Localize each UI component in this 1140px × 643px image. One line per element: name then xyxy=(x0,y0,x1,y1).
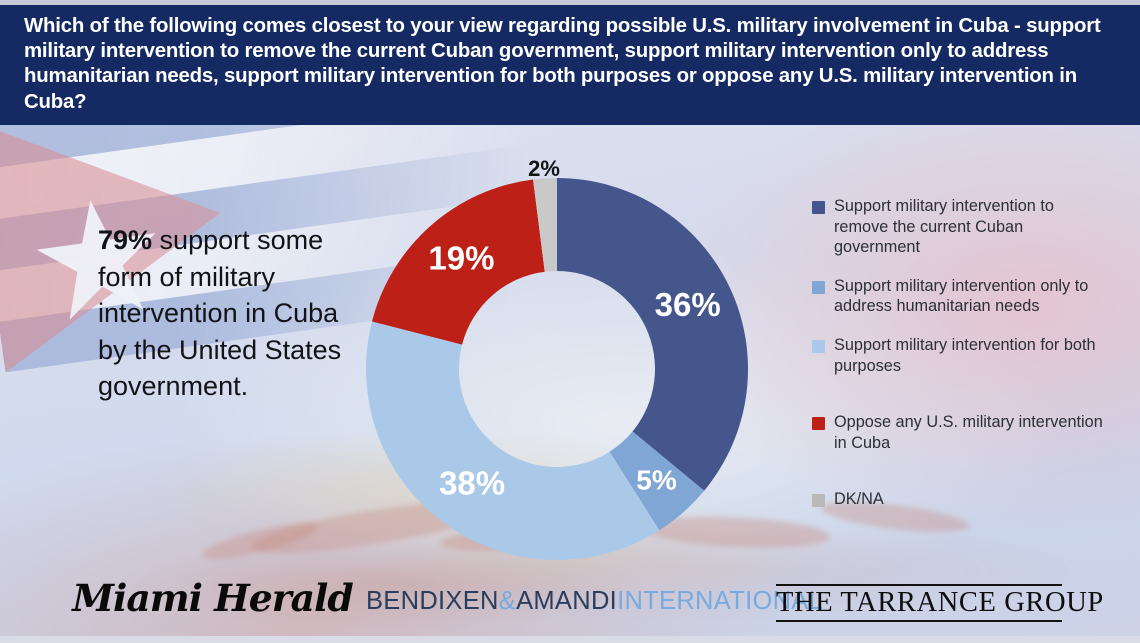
callout-highlight: 79% xyxy=(98,225,152,255)
legend-swatch-icon xyxy=(812,340,825,353)
infographic-poster: Which of the following comes closest to … xyxy=(0,0,1140,643)
bendixen-amandi-logo: BENDIXEN&AMANDIINTERNATIONAL xyxy=(366,587,823,616)
tarrance-rule-top xyxy=(776,584,1062,586)
legend-swatch-icon xyxy=(812,417,825,430)
donut-slice-label: 38% xyxy=(439,465,505,502)
legend-item-humanitarian[interactable]: Support military intervention only to ad… xyxy=(812,276,1112,317)
legend-item-oppose[interactable]: Oppose any U.S. military intervention in… xyxy=(812,412,1112,453)
legend-item-label: Oppose any U.S. military intervention in… xyxy=(834,412,1112,453)
legend-item-label: Support military intervention for both p… xyxy=(834,335,1112,376)
legend-item-dk-na[interactable]: DK/NA xyxy=(812,489,1112,510)
legend-swatch-icon xyxy=(812,201,825,214)
legend-swatch-icon xyxy=(812,494,825,507)
legend-item-label: DK/NA xyxy=(834,489,884,510)
chart-legend: Support military intervention to remove … xyxy=(812,196,1112,524)
bendixen-word: BENDIXEN xyxy=(366,587,499,615)
donut-slice[interactable] xyxy=(366,322,659,560)
footer-logos: Miami Herald BENDIXEN&AMANDIINTERNATIONA… xyxy=(0,560,1140,636)
amandi-word: AMANDI xyxy=(516,587,617,615)
callout-text: 79% support some form of military interv… xyxy=(98,222,348,405)
legend-item-both-purposes[interactable]: Support military intervention for both p… xyxy=(812,335,1112,376)
page-title: Which of the following comes closest to … xyxy=(24,14,1126,115)
legend-item-label: Support military intervention only to ad… xyxy=(834,276,1112,317)
donut-slices xyxy=(366,178,748,560)
tarrance-rule-bottom xyxy=(776,620,1062,622)
question-header: Which of the following comes closest to … xyxy=(0,5,1140,125)
tarrance-group-logo: THE TARRANCE GROUP xyxy=(776,584,1062,622)
legend-item-label: Support military intervention to remove … xyxy=(834,196,1112,258)
legend-item-remove-government[interactable]: Support military intervention to remove … xyxy=(812,196,1112,258)
bendixen-ampersand: & xyxy=(499,587,516,615)
donut-slice[interactable] xyxy=(557,178,748,491)
donut-chart: 36%5%38%19%2% xyxy=(366,178,748,560)
donut-slice-label: 5% xyxy=(636,464,677,495)
donut-slice-label: 19% xyxy=(428,239,494,276)
legend-swatch-icon xyxy=(812,281,825,294)
donut-chart-svg: 36%5%38%19%2% xyxy=(366,178,748,560)
top-frame-strip xyxy=(0,0,1140,5)
donut-slice-label: 2% xyxy=(528,156,560,181)
bottom-frame-strip xyxy=(0,636,1140,643)
donut-slice-label: 36% xyxy=(655,286,721,323)
tarrance-group-text: THE TARRANCE GROUP xyxy=(776,587,1062,619)
miami-herald-logo: Miami Herald xyxy=(72,576,352,620)
